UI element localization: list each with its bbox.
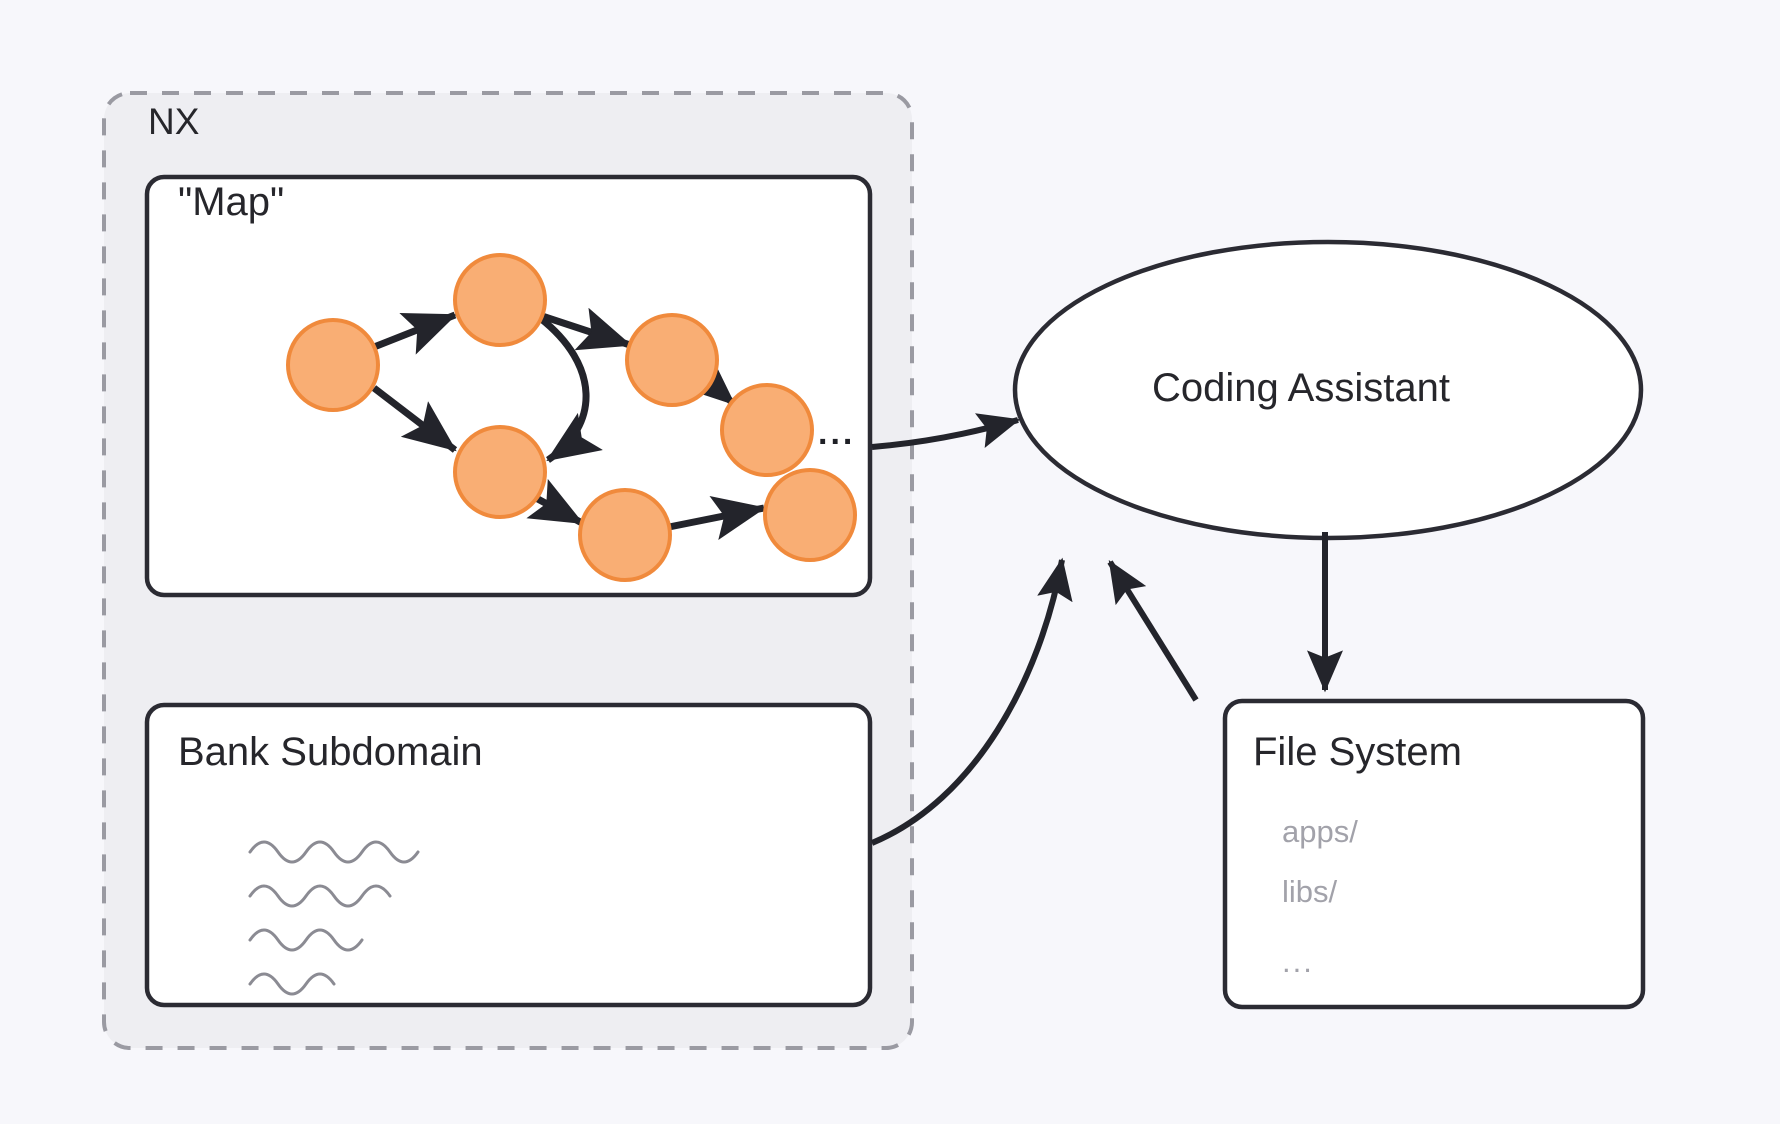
bank-squiggle-lines bbox=[250, 842, 418, 994]
graph-edge bbox=[669, 508, 764, 527]
graph-node[interactable] bbox=[455, 427, 545, 517]
squiggle-line bbox=[250, 886, 390, 906]
graph-edge bbox=[374, 315, 455, 347]
squiggle-line bbox=[250, 974, 334, 994]
graph-edges bbox=[374, 315, 764, 527]
squiggle-line bbox=[250, 930, 362, 950]
graph-node[interactable] bbox=[580, 490, 670, 580]
graph-nodes bbox=[288, 255, 855, 580]
arrow-bank-to-assistant bbox=[872, 560, 1062, 843]
graph-edge bbox=[374, 388, 455, 450]
graph-node[interactable] bbox=[455, 255, 545, 345]
graph-edge-curved bbox=[540, 318, 586, 460]
coding-assistant-label: Coding Assistant bbox=[1152, 368, 1450, 408]
arrow-filesystem-to-assistant bbox=[1110, 562, 1196, 700]
graph-node[interactable] bbox=[288, 320, 378, 410]
map-panel-title: "Map" bbox=[178, 182, 284, 222]
graph-ellipsis: ... bbox=[818, 416, 855, 450]
file-system-entry-libs[interactable]: libs/ bbox=[1282, 876, 1337, 907]
graph-edge bbox=[536, 498, 582, 523]
diagram-vector-layer bbox=[0, 0, 1780, 1124]
connection-arrows bbox=[872, 420, 1325, 843]
diagram-canvas: NX "Map" ... Bank Subdomain Coding Assis… bbox=[0, 0, 1780, 1124]
file-system-entry-apps[interactable]: apps/ bbox=[1282, 816, 1358, 847]
graph-node[interactable] bbox=[627, 315, 717, 405]
bank-subdomain-title: Bank Subdomain bbox=[178, 732, 483, 772]
squiggle-line bbox=[250, 842, 418, 862]
graph-edge bbox=[710, 383, 734, 404]
nx-group-label: NX bbox=[148, 103, 199, 140]
graph-node[interactable] bbox=[765, 470, 855, 560]
file-system-title: File System bbox=[1253, 732, 1462, 772]
graph-edge bbox=[542, 316, 630, 345]
file-system-entry-more: ... bbox=[1282, 946, 1314, 977]
arrow-map-to-assistant bbox=[872, 420, 1018, 447]
map-panel[interactable] bbox=[147, 177, 870, 595]
nx-group-container bbox=[104, 93, 912, 1048]
graph-node[interactable] bbox=[722, 385, 812, 475]
